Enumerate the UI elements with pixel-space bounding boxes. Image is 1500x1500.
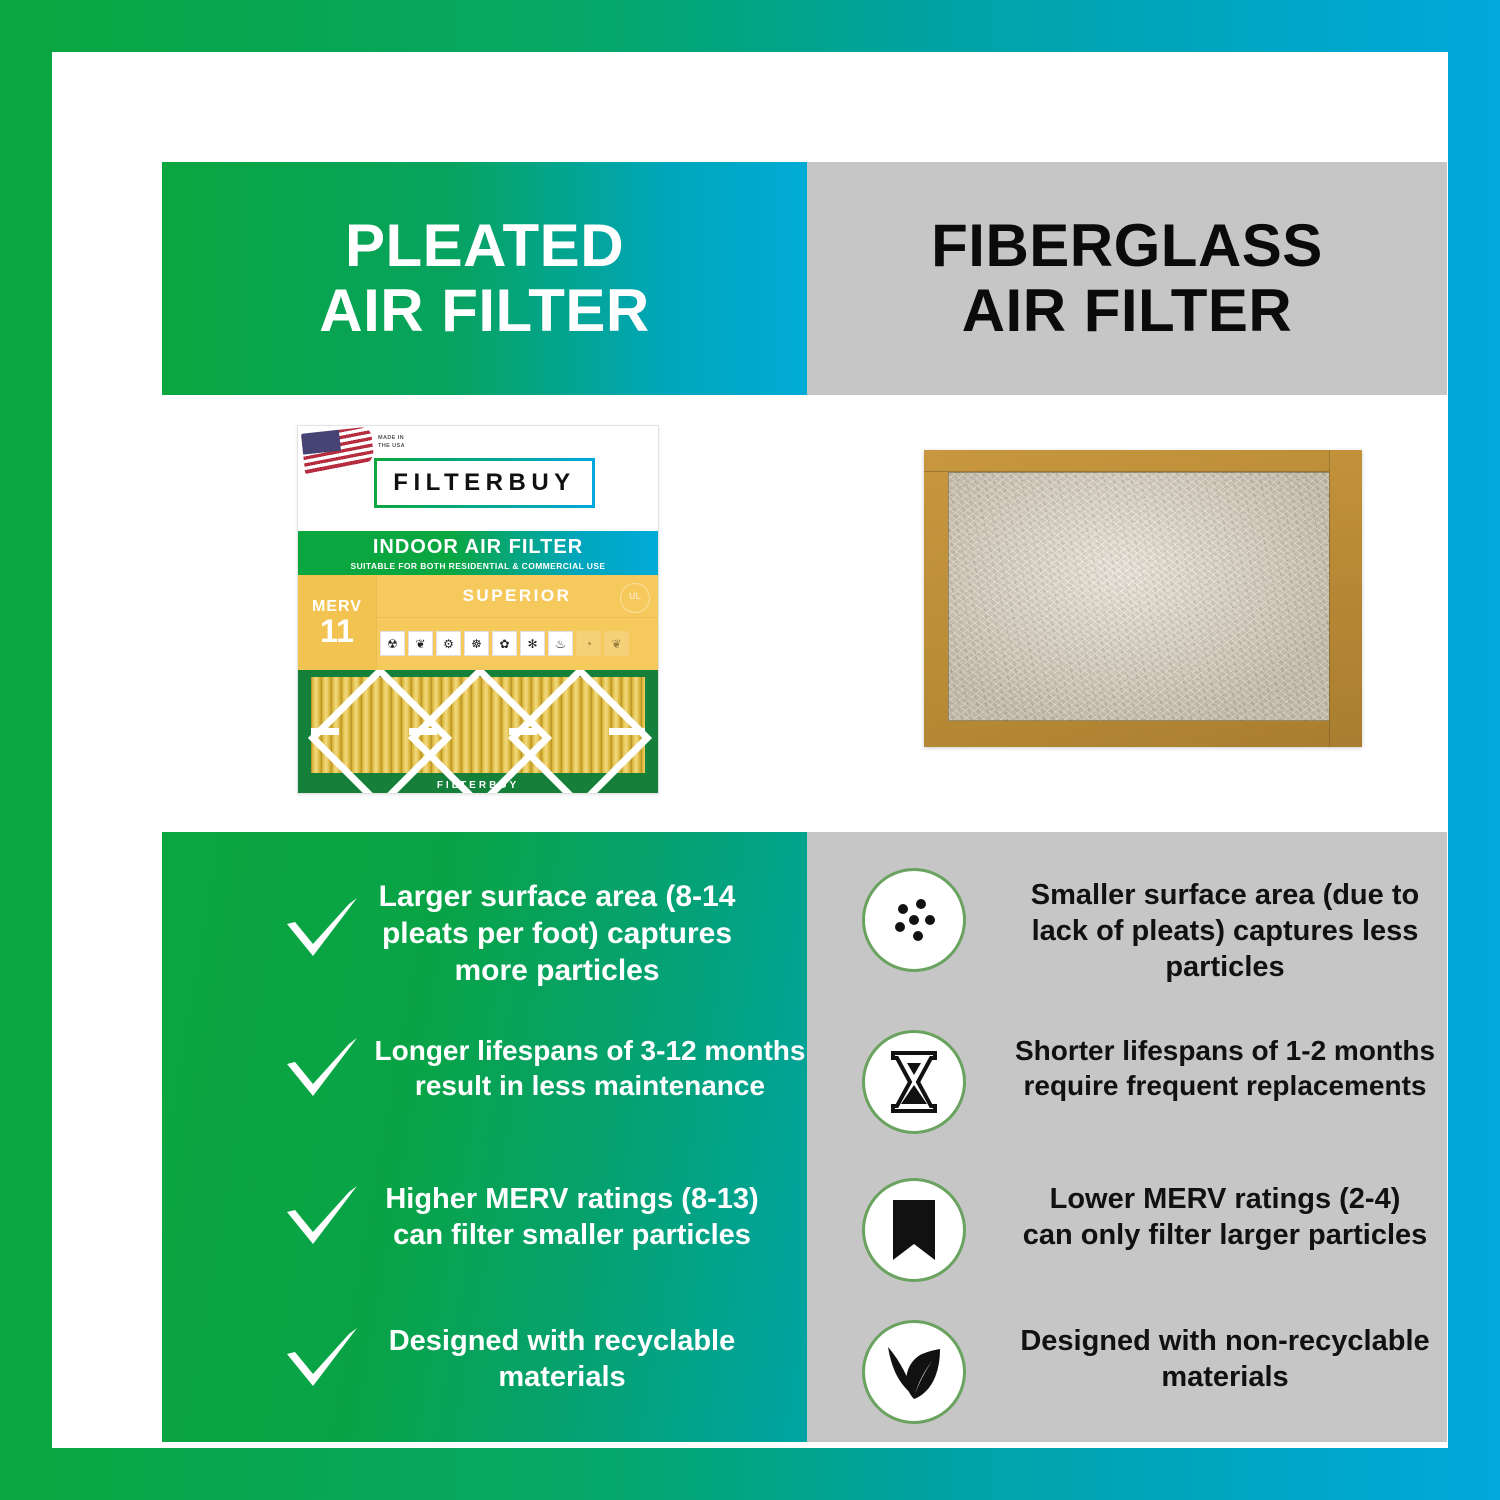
package-tier-label: SUPERIOR bbox=[463, 586, 572, 606]
fiberglass-media-edge bbox=[948, 472, 1332, 721]
pleated-benefit-text: Higher MERV ratings (8-13) can filter sm… bbox=[342, 1182, 802, 1254]
package-feature-icon-strip: ☢ ❦ ⚙ ☸ ✿ ✻ ♨ ◔ ❦ bbox=[380, 621, 650, 666]
usa-flag-icon bbox=[301, 426, 375, 475]
fibers-icon: ❦ bbox=[604, 631, 629, 656]
comparison-row: Higher MERV ratings (8-13) can filter sm… bbox=[162, 1160, 1447, 1300]
filterbuy-logo-box: FILTERBUY bbox=[374, 458, 595, 508]
package-indoor-air-filter-band: INDOOR AIR FILTER SUITABLE FOR BOTH RESI… bbox=[298, 531, 658, 575]
pet-dander-icon: ✻ bbox=[520, 631, 545, 656]
fiberglass-drawback-text: Designed with non-recyclable materials bbox=[990, 1324, 1460, 1396]
bacteria-icon: ✿ bbox=[492, 631, 517, 656]
pleated-benefit-text: Longer lifespans of 3-12 months result i… bbox=[340, 1034, 840, 1103]
fiberglass-filter-product-image bbox=[924, 450, 1362, 747]
pleated-header-panel: PLEATED AIR FILTER bbox=[162, 162, 807, 395]
comparison-row: Larger surface area (8-14 pleats per foo… bbox=[162, 854, 1447, 1006]
particles-icon bbox=[862, 868, 966, 972]
merv-value: 11 bbox=[320, 616, 354, 646]
leaf-icon bbox=[862, 1320, 966, 1424]
smoke-icon: ♨ bbox=[548, 631, 573, 656]
fiberglass-drawback-text: Smaller surface area (due to lack of ple… bbox=[990, 878, 1460, 986]
pleated-benefit-text: Larger surface area (8-14 pleats per foo… bbox=[342, 878, 772, 990]
cardboard-frame-seam bbox=[924, 471, 1362, 472]
mold-spores-icon: ☸ bbox=[464, 631, 489, 656]
made-in-usa-label: MADE IN THE USA bbox=[378, 434, 405, 451]
pollen-icon: ⚙ bbox=[436, 631, 461, 656]
pleated-header-title: PLEATED AIR FILTER bbox=[319, 214, 650, 342]
comparison-row: Designed with recyclable materials Desig… bbox=[162, 1302, 1447, 1442]
dust-icon: ☢ bbox=[380, 631, 405, 656]
pleated-filter-product-image: MADE IN THE USA FILTERBUY INDOOR AIR FIL… bbox=[297, 425, 659, 794]
cardboard-frame-corner bbox=[1329, 450, 1362, 747]
merv-rating-cell: MERV 11 bbox=[298, 575, 377, 670]
ul-certification-icon bbox=[620, 583, 650, 613]
fiberglass-drawback-text: Shorter lifespans of 1-2 months require … bbox=[980, 1034, 1470, 1103]
fiberglass-header-panel: FIBERGLASS AIR FILTER bbox=[807, 162, 1447, 395]
package-band-title: INDOOR AIR FILTER bbox=[373, 536, 583, 559]
comparison-row: Longer lifespans of 3-12 months result i… bbox=[162, 1012, 1447, 1152]
fiberglass-drawback-text: Lower MERV ratings (2-4) can only filter… bbox=[990, 1182, 1460, 1254]
page-canvas: PLEATED AIR FILTER FIBERGLASS AIR FILTER… bbox=[52, 52, 1448, 1448]
insect-icon: ❦ bbox=[408, 631, 433, 656]
comparison-section: Larger surface area (8-14 pleats per foo… bbox=[162, 832, 1447, 1442]
lint-icon: ◔ bbox=[576, 631, 601, 656]
package-tier-row: SUPERIOR bbox=[376, 575, 658, 618]
bookmark-icon bbox=[862, 1178, 966, 1282]
product-images-row: MADE IN THE USA FILTERBUY INDOOR AIR FIL… bbox=[162, 395, 1447, 832]
gradient-border-frame: PLEATED AIR FILTER FIBERGLASS AIR FILTER… bbox=[0, 0, 1500, 1500]
package-gold-spec-band: MERV 11 SUPERIOR ☢ ❦ ⚙ ☸ ✿ ✻ ♨ bbox=[298, 575, 658, 670]
filterbuy-wordmark: FILTERBUY bbox=[393, 469, 575, 497]
package-footer-brand: FILTERBUY bbox=[298, 780, 658, 791]
support-diamond bbox=[508, 670, 652, 793]
header-row: PLEATED AIR FILTER FIBERGLASS AIR FILTER bbox=[162, 162, 1447, 395]
pleated-benefit-text: Designed with recyclable materials bbox=[342, 1324, 782, 1396]
gold-pleated-media bbox=[311, 677, 645, 773]
package-top-white-band: MADE IN THE USA FILTERBUY bbox=[298, 426, 658, 531]
fiberglass-header-title: FIBERGLASS AIR FILTER bbox=[931, 214, 1323, 342]
pleated-media-panel: FILTERBUY bbox=[298, 670, 658, 793]
hourglass-icon bbox=[862, 1030, 966, 1134]
package-band-subtitle: SUITABLE FOR BOTH RESIDENTIAL & COMMERCI… bbox=[351, 561, 606, 571]
